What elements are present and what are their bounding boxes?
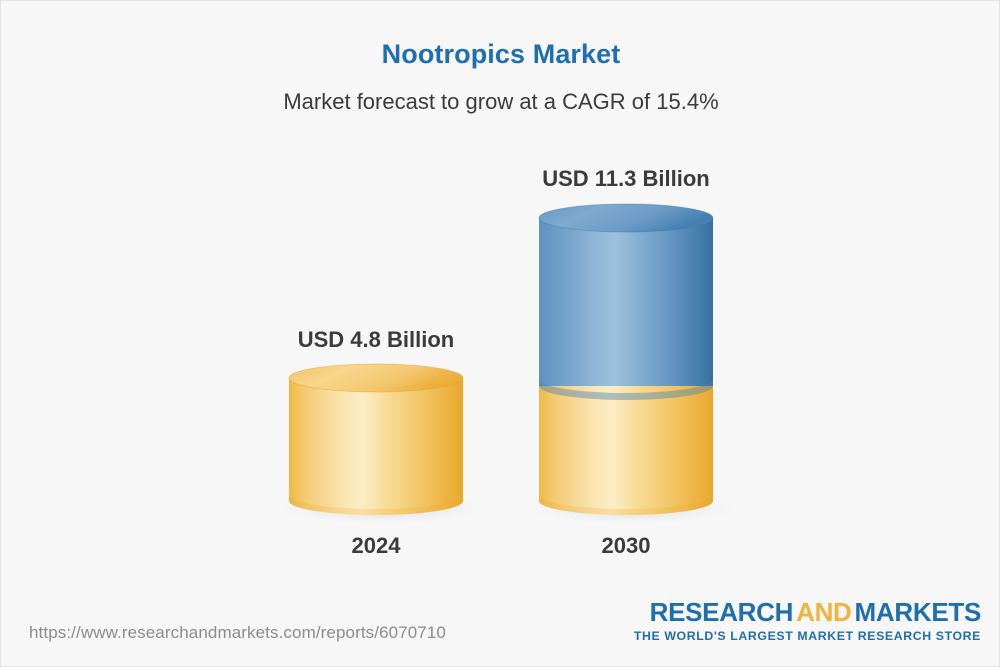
logo-tagline: THE WORLD'S LARGEST MARKET RESEARCH STOR… (634, 629, 981, 643)
bar-value-label-2030: USD 11.3 Billion (539, 166, 713, 192)
logo-wordmark: RESEARCHANDMARKETS (634, 599, 981, 626)
bar-value-label-2024: USD 4.8 Billion (289, 327, 463, 353)
logo-word-and: AND (793, 597, 854, 627)
bar-2030[interactable] (539, 204, 713, 515)
logo-word-research: RESEARCH (650, 597, 794, 627)
source-url[interactable]: https://www.researchandmarkets.com/repor… (29, 623, 446, 643)
bar-chart-plot (1, 1, 1000, 601)
research-and-markets-logo[interactable]: RESEARCHANDMARKETS THE WORLD'S LARGEST M… (634, 599, 981, 643)
logo-word-markets: MARKETS (855, 597, 981, 627)
chart-canvas: Nootropics Market Market forecast to gro… (0, 0, 1000, 667)
bar-2024[interactable] (289, 364, 463, 515)
x-axis-label-2030: 2030 (539, 533, 713, 559)
x-axis-label-2024: 2024 (289, 533, 463, 559)
